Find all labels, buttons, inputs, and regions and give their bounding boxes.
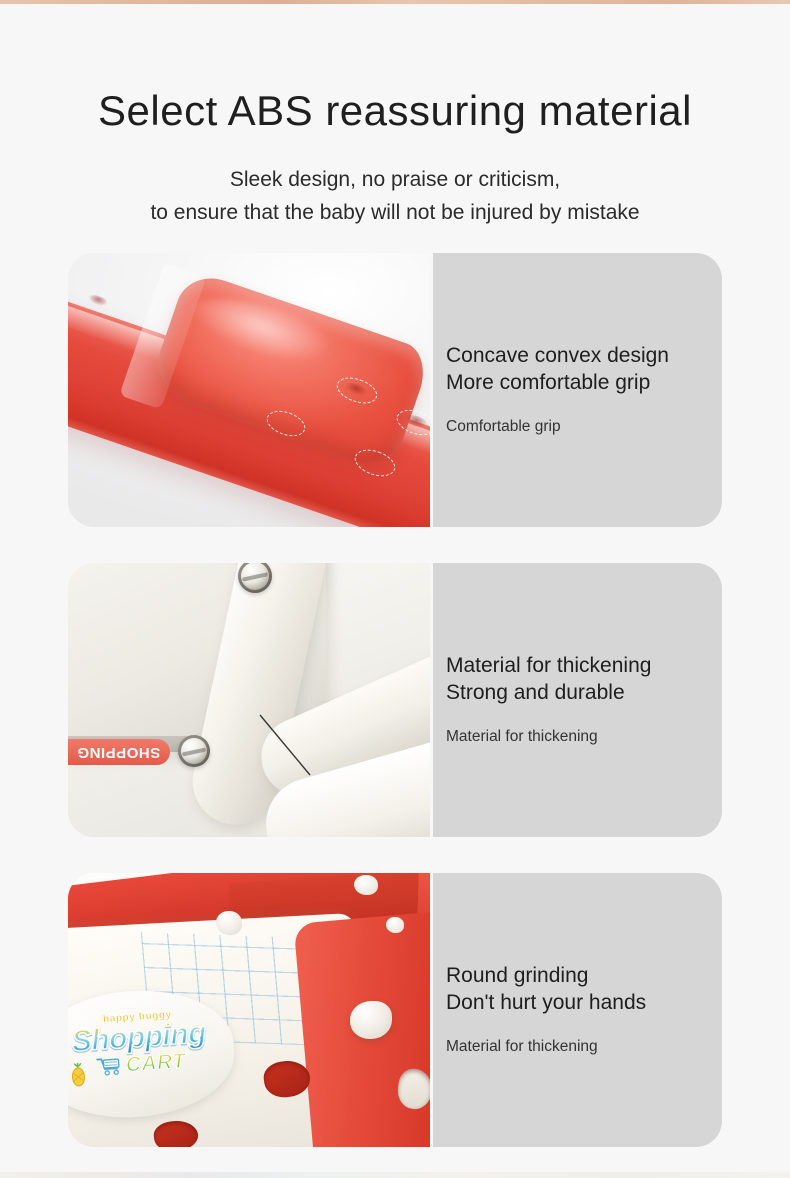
feature-card-concave-convex-design: Concave convex design More comfortable g… [68, 253, 722, 527]
feature-card-round-grinding: happy buggy Shopping CART [68, 873, 722, 1147]
feature-heading: Material for thickening Strong and durab… [446, 653, 722, 707]
feature-caption: Material for thickening [446, 727, 722, 747]
shopping-cart-icon [95, 1055, 122, 1077]
feature-heading-line-2: More comfortable grip [446, 370, 722, 397]
feature-caption: Comfortable grip [446, 417, 722, 437]
white-knob [350, 1001, 392, 1039]
card-gutter [430, 563, 433, 837]
screw-slot [182, 747, 207, 756]
feature-heading-line-1: Round grinding [446, 963, 722, 990]
subtitle-line-2: to ensure that the baby will not be inju… [0, 197, 790, 230]
feature-heading-line-1: Concave convex design [446, 343, 722, 370]
white-frame-corner-photo: SHOPPING [68, 563, 430, 837]
screw-slot [242, 572, 268, 581]
toy-cart-logo-photo: happy buggy Shopping CART [68, 873, 430, 1147]
pineapple-icon [69, 1062, 89, 1087]
pointer-line [258, 713, 312, 777]
screw-icon [178, 735, 210, 767]
logo-artwork: happy buggy Shopping CART [68, 1007, 227, 1110]
white-nub [386, 917, 404, 933]
feature-heading-line-1: Material for thickening [446, 653, 722, 680]
subtitle-line-1: Sleek design, no praise or criticism, [0, 164, 790, 197]
page-header: Select ABS reassuring material Sleek des… [0, 0, 790, 229]
feature-text-panel: Material for thickening Strong and durab… [430, 563, 722, 837]
shopping-sticker-label: SHOPPING [68, 739, 170, 765]
card-gutter [430, 873, 433, 1147]
white-nub [216, 911, 242, 935]
feature-text-panel: Round grinding Don't hurt your hands Mat… [430, 873, 722, 1147]
page-subtitle: Sleek design, no praise or criticism, to… [0, 134, 790, 229]
feature-text-panel: Concave convex design More comfortable g… [430, 253, 722, 527]
feature-heading-line-2: Don't hurt your hands [446, 990, 722, 1017]
feature-heading-line-2: Strong and durable [446, 680, 722, 707]
bottom-edge-strip [0, 1172, 790, 1178]
feature-heading: Concave convex design More comfortable g… [446, 343, 722, 397]
feature-card-list: Concave convex design More comfortable g… [0, 253, 790, 1147]
red-handle-bar-photo [68, 253, 430, 527]
feature-card-material-thickening: SHOPPING Material for thickening Strong … [68, 563, 722, 837]
page-title: Select ABS reassuring material [0, 0, 790, 134]
white-nub [354, 875, 378, 895]
feature-heading: Round grinding Don't hurt your hands [446, 963, 722, 1017]
feature-caption: Material for thickening [446, 1037, 722, 1057]
shopping-label-text: SHOPPING [77, 744, 160, 761]
card-gutter [430, 253, 433, 527]
